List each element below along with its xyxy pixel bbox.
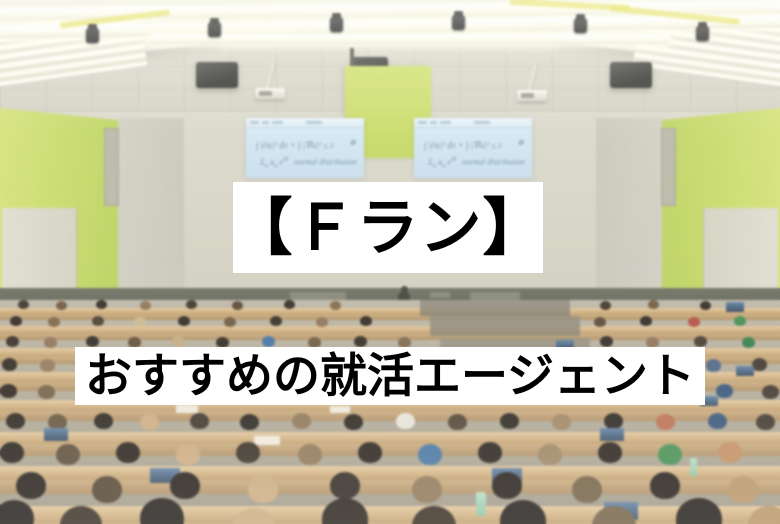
student-head [10,316,22,326]
student-head [658,444,682,465]
student-head [344,414,363,430]
student-head [284,300,295,309]
student-head [396,413,415,429]
student-paper [254,436,280,445]
track-spotlight-icon [208,22,221,37]
student-head [6,336,19,347]
student-head [742,337,755,348]
desk-row [0,326,780,334]
ceiling-projector [517,90,547,101]
student-head [190,413,209,429]
track-spotlight-icon [330,17,343,32]
title-overlay-box: 【Ｆラン】 [233,182,543,273]
aisle-gap [420,300,570,316]
ceiling-speaker [196,62,238,88]
ceiling-light-strip [150,34,670,44]
student-head [322,498,368,524]
projection-screen-right: ∫ |∂u|² dx + ∫ |∇u|² ≤ c Σn an eiθ norma… [414,118,532,178]
student-head [330,472,360,499]
student-head [92,476,122,503]
student-head [38,385,55,399]
track-spotlight-icon [452,15,465,30]
student-head [56,444,80,465]
ceiling-speaker [610,62,652,88]
student-head [604,413,623,429]
student-head [134,317,146,327]
student-head [728,476,758,503]
student-head [412,476,442,503]
stage-wall-marking [430,292,450,298]
student-head [500,413,519,429]
student-head [552,414,571,430]
subtitle-text: おすすめの就活エージェント [85,353,695,400]
student-head [718,442,742,463]
desk-row [0,506,780,523]
student-paper [330,406,350,413]
side-wall-recess-left [118,118,184,308]
student-head [236,442,260,463]
student-head [358,442,382,463]
student-head [172,336,185,347]
student-head [18,300,29,309]
student-head [640,316,652,326]
water-bottle [476,492,486,516]
student-head [16,472,46,499]
student-head [330,301,341,310]
student-head [316,317,328,327]
student-head [270,316,282,326]
track-spotlight-icon [574,18,587,33]
thumbnail-canvas: ∫ |∂u|² dx + ∫ |∇u|² ≤ c Σn an eiθ norma… [0,0,780,524]
student-head [224,317,236,327]
audience-seating [0,300,780,524]
student-head [248,476,278,503]
slide-toolbar [414,118,532,128]
student-head [492,472,522,499]
student-head [56,301,67,310]
student-head [6,413,25,429]
student-head [708,413,727,429]
student-paper [176,405,198,413]
student-head [40,359,55,372]
student-head [694,336,707,347]
student-head [232,301,243,310]
student-laptop [600,428,624,441]
student-head [96,300,107,309]
track-spotlight-icon [86,28,99,43]
student-head [448,414,467,430]
student-head [734,316,746,326]
student-head [478,442,502,463]
student-laptop [44,428,68,441]
student-head [262,336,275,347]
aisle-gap [430,316,580,336]
student-head [176,444,200,465]
student-head [418,444,442,465]
student-head [598,442,622,463]
student-head [178,316,190,326]
student-head [170,472,200,499]
student-head [500,500,546,524]
ceiling-projector [255,88,285,99]
title-text: 【Ｆラン】 [233,197,543,259]
student-head [94,413,113,429]
student-head [186,300,197,309]
student-head [44,337,57,348]
desk-row [0,432,780,444]
student-head [0,442,24,463]
student-laptop [736,366,754,376]
student-head [756,414,775,430]
student-head [572,476,602,503]
side-wall-recess-right [596,118,662,308]
desk-row-front [0,315,780,320]
student-head [360,316,372,326]
student-head [116,442,140,463]
track-spotlight-icon [696,26,709,41]
student-head [594,317,606,327]
desk-row-front [0,334,780,340]
student-head [354,336,367,347]
student-head [706,359,721,372]
student-head [0,500,34,524]
wall-vent-slot [104,128,119,206]
water-bottle [690,458,697,476]
projection-screen-left: ∫ |∂u|² dx + ∫ |∇u|² ≤ c Σn an eiθ norma… [246,118,364,178]
desk-row [0,308,780,315]
student-head [762,385,779,399]
student-head [600,301,611,310]
student-head [700,301,711,310]
student-head [92,316,104,326]
student-head [48,317,60,327]
student-head [240,414,259,430]
subtitle-overlay-box: おすすめの就活エージェント [75,347,705,405]
student-head [292,413,311,429]
student-head [298,444,322,465]
student-head [648,300,659,309]
student-head [656,414,675,430]
wall-vent-slot [661,128,676,206]
student-head [650,472,680,499]
student-head [140,498,184,524]
student-head [538,444,562,465]
slide-toolbar [246,118,364,128]
student-head [752,358,767,371]
student-head [0,384,17,398]
student-head [86,336,99,347]
student-head [140,301,151,310]
student-laptop [726,302,744,312]
student-head [676,498,722,524]
student-head [688,317,700,327]
student-head [2,358,17,371]
student-head [716,384,733,398]
student-head [600,336,613,347]
student-head [140,414,159,430]
